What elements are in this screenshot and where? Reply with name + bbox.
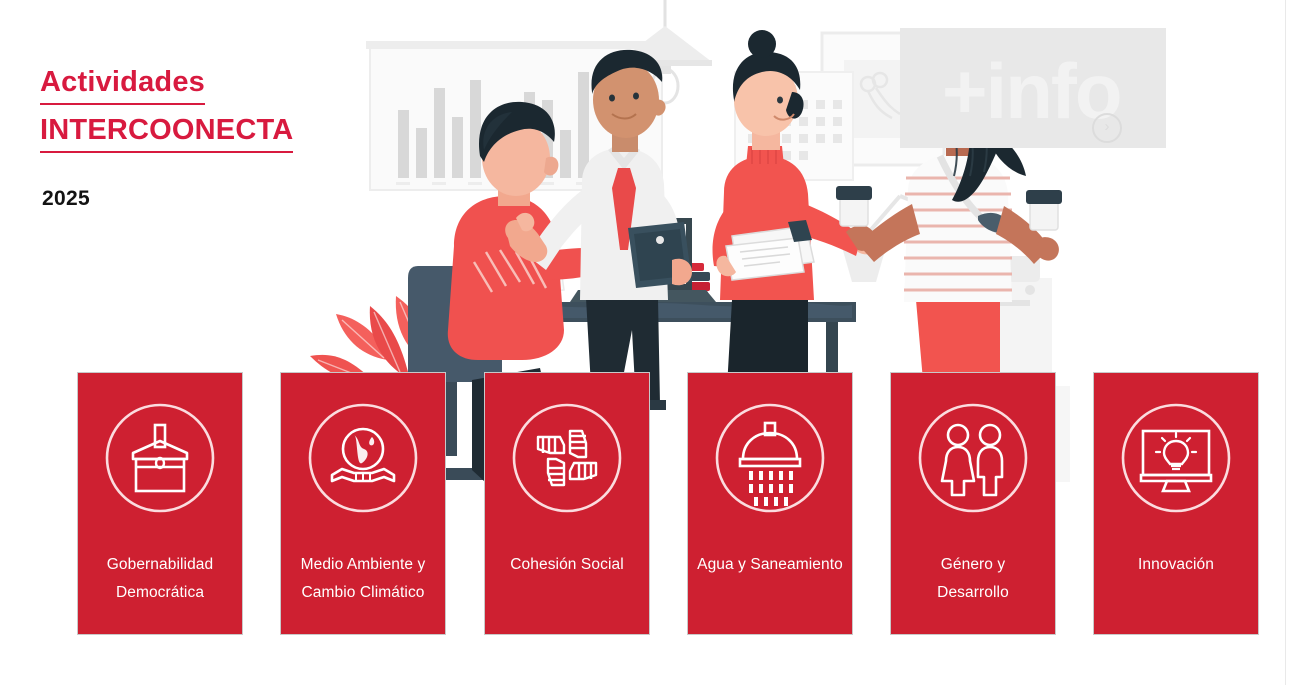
ballot-box-icon — [103, 401, 217, 515]
globe-in-hands-icon — [306, 401, 420, 515]
two-people-icon — [916, 401, 1030, 515]
card-agua-saneamiento[interactable]: Agua y Saneamiento — [687, 372, 853, 635]
card-medio-ambiente-cambio-climatico[interactable]: Medio Ambiente yCambio Climático — [280, 372, 446, 635]
card-gobernabilidad-democratica[interactable]: GobernabilidadDemocrática — [77, 372, 243, 635]
card-label: Innovación — [1098, 551, 1254, 579]
thematic-area-cards: GobernabilidadDemocrática — [0, 0, 1297, 685]
card-cohesion-social[interactable]: Cohesión Social — [484, 372, 650, 635]
card-label: Medio Ambiente yCambio Climático — [285, 551, 441, 607]
shower-icon — [713, 401, 827, 515]
slide-canvas: +info › Actividades INTERCOONECTA 2025 G — [0, 0, 1297, 685]
card-label: Agua y Saneamiento — [692, 551, 848, 579]
monitor-lightbulb-icon — [1119, 401, 1233, 515]
card-label: GobernabilidadDemocrática — [82, 551, 238, 607]
card-innovacion[interactable]: Innovación — [1093, 372, 1259, 635]
card-label: Cohesión Social — [489, 551, 645, 579]
card-label: Género yDesarrollo — [895, 551, 1051, 607]
interlocking-hands-icon — [510, 401, 624, 515]
card-genero-desarrollo[interactable]: Género yDesarrollo — [890, 372, 1056, 635]
